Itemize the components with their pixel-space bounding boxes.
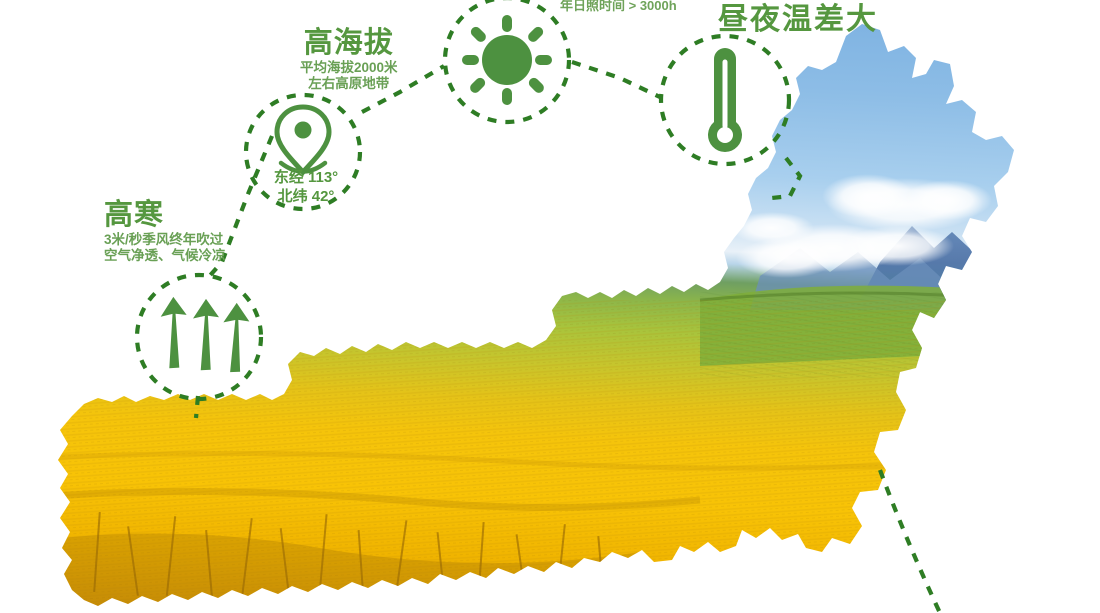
- label-altitude: 高海拔 平均海拔2000米 左右高原地带: [300, 26, 398, 92]
- coordinate-longitude: 东经 113°: [274, 169, 338, 186]
- cold-heading: 高寒: [104, 198, 226, 232]
- infographic-canvas: 高海拔 平均海拔2000米 左右高原地带 东经 113° 北纬 42° 年日照时…: [0, 0, 1100, 613]
- cold-sub-line-2: 空气净透、气候冷凉: [104, 248, 226, 264]
- label-temperature: 昼夜温差大: [718, 2, 878, 37]
- altitude-sub-line-1: 平均海拔2000米: [300, 60, 398, 76]
- text-layer: 高海拔 平均海拔2000米 左右高原地带 东经 113° 北纬 42° 年日照时…: [0, 0, 1100, 613]
- cold-sub-line-1: 3米/秒季风终年吹过: [104, 232, 226, 248]
- coordinate-latitude: 北纬 42°: [278, 188, 335, 205]
- temperature-heading: 昼夜温差大: [718, 2, 878, 37]
- sunshine-sub-line-1: 年日照时间 > 3000h: [560, 0, 677, 13]
- label-coordinates: 东经 113° 北纬 42°: [258, 168, 354, 206]
- altitude-heading: 高海拔: [300, 26, 398, 60]
- label-cold: 高寒 3米/秒季风终年吹过 空气净透、气候冷凉: [104, 198, 226, 264]
- label-sunshine: 年日照时间 > 3000h: [560, 0, 677, 13]
- altitude-sub-line-2: 左右高原地带: [300, 76, 398, 92]
